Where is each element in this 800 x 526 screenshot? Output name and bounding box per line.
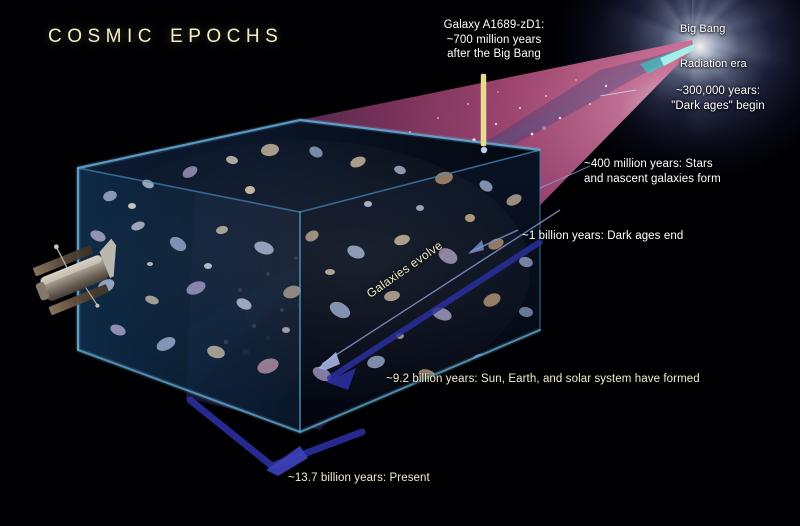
annotation-big-bang: Big Bang xyxy=(680,22,725,37)
annotation-dark-ages-end: ~1 billion years: Dark ages end xyxy=(522,229,683,244)
cosmic-epochs-figure: Cosmic Epochs Galaxy A1689-zD1: ~700 mil… xyxy=(0,0,800,526)
annotation-present: ~13.7 billion years: Present xyxy=(288,471,430,486)
annotation-radiation-era: Radiation era xyxy=(680,57,747,72)
annotation-dark-ages-begin: ~300,000 years: "Dark ages" begin xyxy=(640,84,796,113)
page-title: Cosmic Epochs xyxy=(48,18,283,49)
annotation-galaxy-callout: Galaxy A1689-zD1: ~700 million years aft… xyxy=(418,18,570,62)
annotation-solar-system: ~9.2 billion years: Sun, Earth, and sola… xyxy=(386,372,700,387)
annotation-stars-form: ~400 million years: Stars and nascent ga… xyxy=(584,157,800,186)
hubble-telescope-icon xyxy=(26,236,130,322)
